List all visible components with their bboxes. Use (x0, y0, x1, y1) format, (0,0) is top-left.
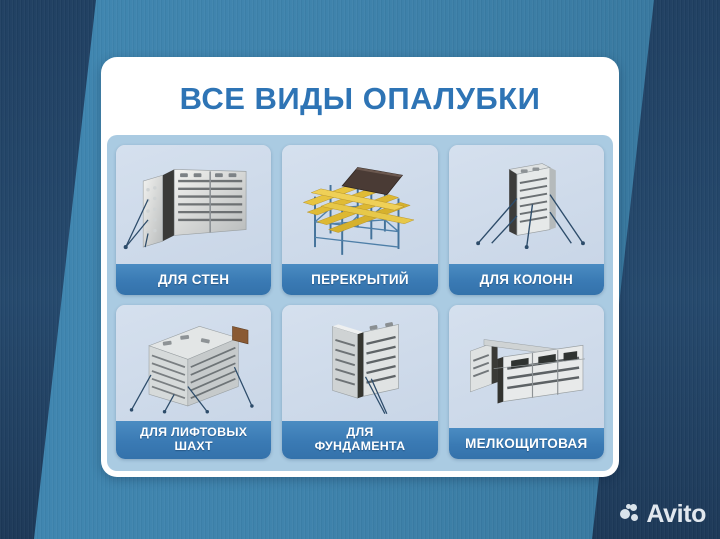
card-label: ДЛЯ СТЕН (116, 264, 271, 295)
card-label: ДЛЯ ЛИФТОВЫХ ШАХТ (116, 421, 271, 459)
card-slab-formwork[interactable]: ПЕРЕКРЫТИЙ (282, 145, 437, 295)
elevator-shaft-formwork-image (116, 305, 271, 421)
card-label: ПЕРЕКРЫТИЙ (282, 264, 437, 295)
card-label: ДЛЯ ФУНДАМЕНТА (282, 421, 437, 459)
card-small-panel-formwork[interactable]: МЕЛКОЩИТОВАЯ (449, 305, 604, 459)
small-panel-formwork-image (449, 305, 604, 428)
page-title: ВСЕ ВИДЫ ОПАЛУБКИ (180, 81, 541, 117)
avito-wordmark: Avito (646, 502, 706, 527)
card-label: ДЛЯ КОЛОНН (449, 264, 604, 295)
card-wall-formwork[interactable]: ДЛЯ СТЕН (116, 145, 271, 295)
info-board: ВСЕ ВИДЫ ОПАЛУБКИ (101, 57, 619, 477)
title-bar: ВСЕ ВИДЫ ОПАЛУБКИ (107, 63, 613, 135)
card-foundation-formwork[interactable]: ДЛЯ ФУНДАМЕНТА (282, 305, 437, 459)
poster-canvas: ВСЕ ВИДЫ ОПАЛУБКИ (0, 0, 720, 539)
cards-panel: ДЛЯ СТЕН (107, 135, 613, 471)
avito-watermark: Avito (620, 502, 706, 527)
card-column-formwork[interactable]: ДЛЯ КОЛОНН (449, 145, 604, 295)
slab-formwork-image (282, 145, 437, 264)
card-elevator-shaft-formwork[interactable]: ДЛЯ ЛИФТОВЫХ ШАХТ (116, 305, 271, 459)
foundation-formwork-image (282, 305, 437, 421)
cards-row-bottom: ДЛЯ ЛИФТОВЫХ ШАХТ (116, 305, 604, 459)
cards-row-top: ДЛЯ СТЕН (116, 145, 604, 295)
wall-formwork-image (116, 145, 271, 264)
card-label: МЕЛКОЩИТОВАЯ (449, 428, 604, 459)
column-formwork-image (449, 145, 604, 264)
avito-dots-logo-icon (620, 504, 641, 525)
